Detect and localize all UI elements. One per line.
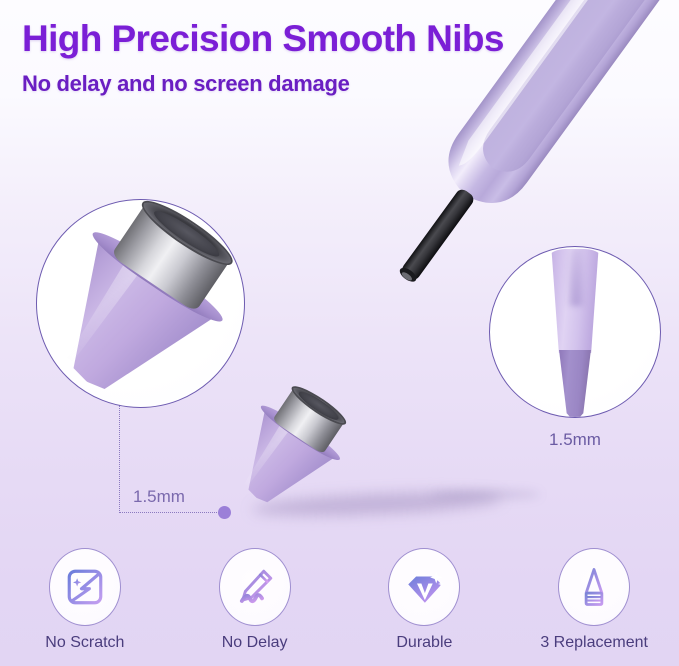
center-nib-shadow-tail — [430, 490, 540, 499]
feature-replacement: 3 Replacement — [509, 548, 679, 666]
nib-tip-upper-shadow — [568, 249, 584, 306]
nib-zoom-large-content — [37, 200, 244, 407]
screen-lightning-icon — [64, 566, 106, 608]
feature-no-delay: No Delay — [170, 548, 340, 666]
feature-label: No Delay — [222, 634, 288, 652]
nib-zoom-small-content — [490, 247, 660, 417]
feature-icon-circle — [388, 548, 460, 626]
feature-label: Durable — [396, 634, 452, 652]
nib-zoom-circle-large — [36, 199, 245, 408]
pencil-writing-icon — [234, 566, 276, 608]
measurement-label-left: 1.5mm — [133, 487, 185, 507]
measurement-label-right: 1.5mm — [489, 430, 661, 450]
product-feature-image: High Precision Smooth Nibs No delay and … — [0, 0, 679, 666]
measurement-leader-horizontal — [119, 512, 225, 513]
feature-label: No Scratch — [45, 634, 124, 652]
nib-tip-icon — [573, 566, 615, 608]
nib-tip-lower — [558, 350, 593, 417]
feature-label: 3 Replacement — [540, 634, 648, 652]
page-subtitle: No delay and no screen damage — [22, 71, 350, 97]
feature-row: No Scratch No Delay — [0, 548, 679, 666]
nib-tip-vertical-illustration — [544, 249, 606, 417]
feature-durable: Durable — [340, 548, 510, 666]
feature-icon-circle — [558, 548, 630, 626]
page-headline: High Precision Smooth Nibs — [22, 18, 504, 60]
diamond-sparkle-icon — [403, 566, 445, 608]
feature-no-scratch: No Scratch — [0, 548, 170, 666]
measurement-leader-vertical — [119, 405, 120, 513]
nib-zoom-circle-small — [489, 246, 661, 418]
feature-icon-circle — [49, 548, 121, 626]
measurement-endpoint-dot — [218, 506, 231, 519]
nib-illustration-large — [37, 200, 244, 407]
feature-icon-circle — [219, 548, 291, 626]
